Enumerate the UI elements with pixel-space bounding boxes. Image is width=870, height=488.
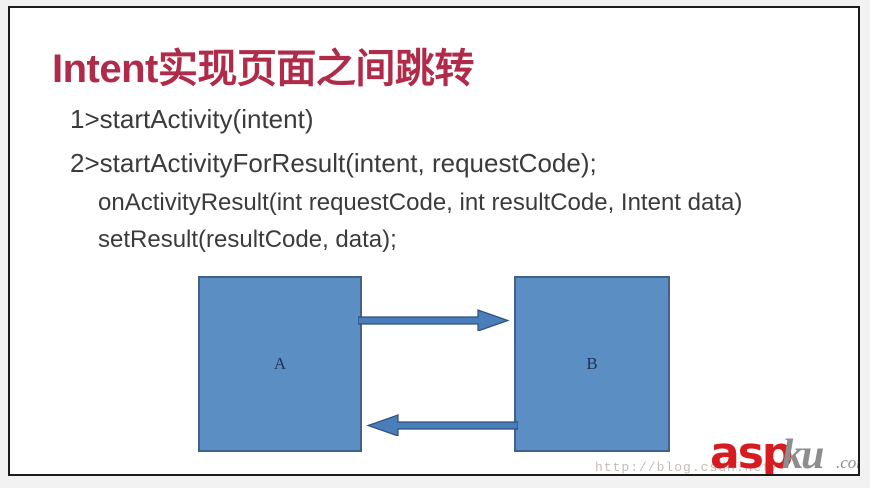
aspku-logo-com: .com	[836, 454, 860, 471]
diagram-node-b-label: B	[586, 354, 597, 374]
arrow-b-to-a-icon	[358, 406, 518, 436]
slide-frame: Intent实现页面之间跳转 1>startActivity(intent) 2…	[0, 0, 870, 488]
aspku-logo-asp: asp	[710, 432, 791, 476]
aspku-logo: asp ku .com 免费网站源码下载站!	[710, 432, 860, 476]
presentation-slide: Intent实现页面之间跳转 1>startActivity(intent) 2…	[8, 6, 860, 476]
diagram-node-a-label: A	[274, 354, 286, 374]
aspku-logo-tagline: 免费网站源码下载站!	[756, 472, 860, 476]
activity-flow-diagram: A B	[10, 8, 860, 476]
diagram-node-a: A	[198, 276, 362, 452]
arrow-a-to-b-icon	[358, 301, 518, 331]
diagram-node-b: B	[514, 276, 670, 452]
aspku-logo-ku: ku	[782, 434, 822, 476]
